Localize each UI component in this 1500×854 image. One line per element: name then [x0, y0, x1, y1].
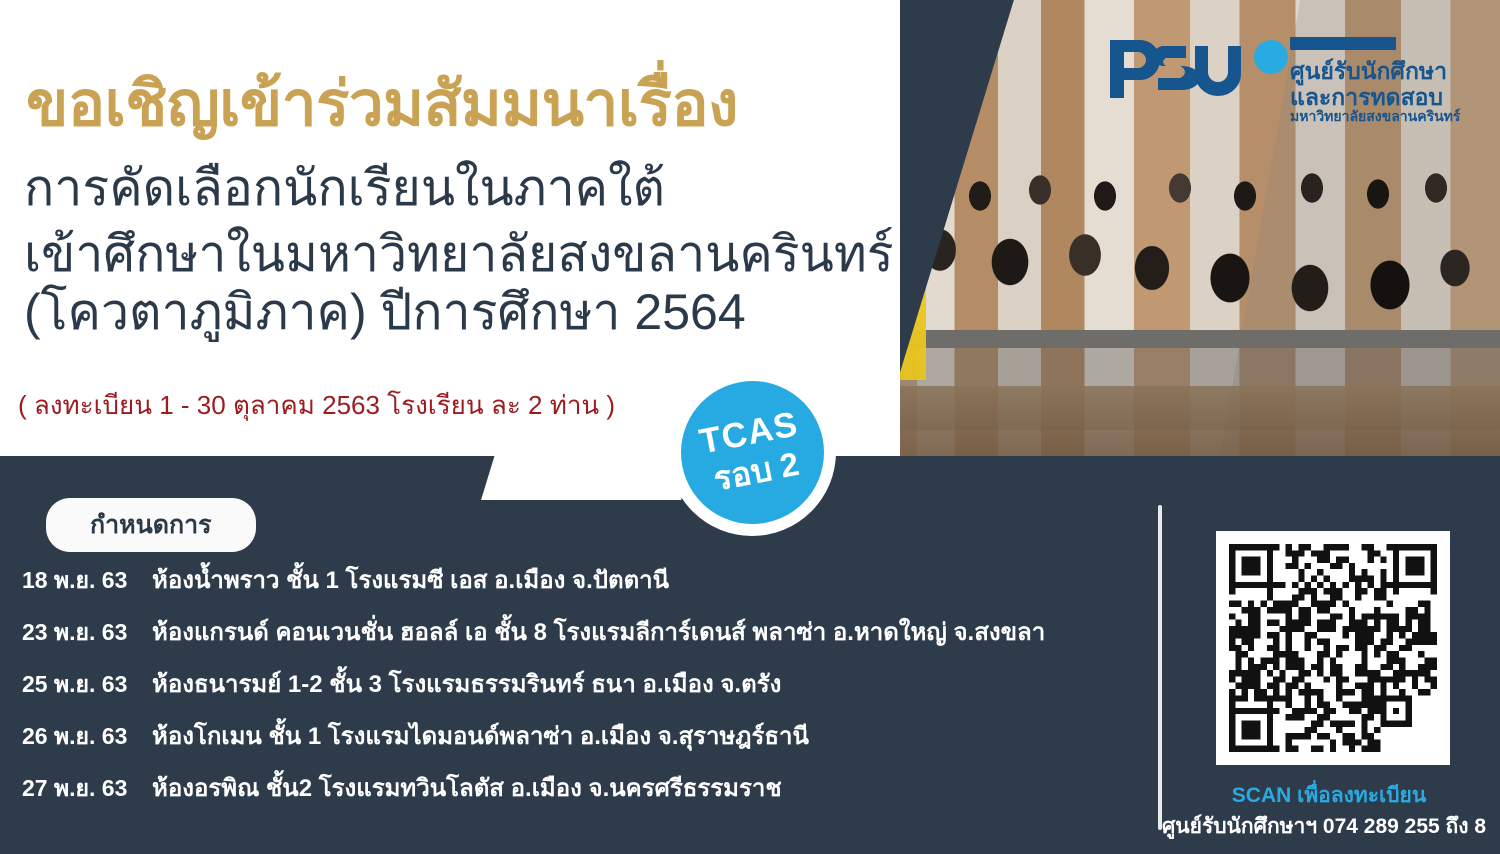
- tcas-badge-inner: TCAS รอบ 2: [668, 368, 836, 536]
- schedule-date: 26 พ.ย. 63: [0, 719, 152, 755]
- psu-wordmark-icon: [1104, 32, 1264, 106]
- schedule-venue: ห้องน้ำพราว ชั้น 1 โรงแรมซี เอส อ.เมือง …: [152, 560, 669, 599]
- schedule-date: 18 พ.ย. 63: [0, 563, 152, 599]
- psu-logo-line3: มหาวิทยาลัยสงขลานครินทร์: [1290, 106, 1460, 128]
- schedule-venue: ห้องธนารมย์ 1-2 ชั้น 3 โรงแรมธรรมรินทร์ …: [152, 664, 781, 703]
- schedule-row: 18 พ.ย. 63 ห้องน้ำพราว ชั้น 1 โรงแรมซี เ…: [0, 560, 1130, 612]
- qr-code-icon[interactable]: [1229, 544, 1437, 752]
- schedule-heading-pill: กำหนดการ: [46, 498, 256, 552]
- page-title-line3: เข้าศึกษาในมหาวิทยาลัยสงขลานครินทร์: [24, 226, 894, 283]
- schedule-date: 23 พ.ย. 63: [0, 615, 152, 651]
- schedule-row: 25 พ.ย. 63 ห้องธนารมย์ 1-2 ชั้น 3 โรงแรม…: [0, 664, 1130, 716]
- schedule-row: 23 พ.ย. 63 ห้องแกรนด์ คอนเวนชั่น ฮอลล์ เ…: [0, 612, 1130, 664]
- page-title-line2: การคัดเลือกนักเรียนในภาคใต้: [24, 160, 665, 217]
- schedule-venue: ห้องแกรนด์ คอนเวนชั่น ฮอลล์ เอ ชั้น 8 โร…: [152, 612, 1045, 651]
- schedule-date: 27 พ.ย. 63: [0, 771, 152, 807]
- page-title-gold: ขอเชิญเข้าร่วมสัมมนาเรื่อง: [26, 74, 738, 136]
- schedule-list: 18 พ.ย. 63 ห้องน้ำพราว ชั้น 1 โรงแรมซี เ…: [0, 560, 1130, 820]
- contact-phone-label: ศูนย์รับนักศึกษาฯ 074 289 255 ถึง 8: [1148, 810, 1500, 843]
- schedule-date: 25 พ.ย. 63: [0, 667, 152, 703]
- page-title-line4: (โควตาภูมิภาค) ปีการศึกษา 2564: [24, 284, 746, 341]
- qr-code-box[interactable]: [1216, 531, 1450, 765]
- schedule-venue: ห้องโกเมน ชั้น 1 โรงแรมไดมอนด์พลาซ่า อ.เ…: [152, 716, 809, 755]
- seminar-poster: ขอเชิญเข้าร่วมสัมมนาเรื่อง การคัดเลือกนั…: [0, 0, 1500, 854]
- psu-blue-dot-icon: [1254, 40, 1288, 74]
- registration-note: ( ลงทะเบียน 1 - 30 ตุลาคม 2563 โรงเรียน …: [18, 385, 615, 426]
- photo-floor: [880, 386, 1500, 456]
- scan-label: SCAN เพื่อลงทะเบียน: [1158, 779, 1500, 812]
- schedule-row: 26 พ.ย. 63 ห้องโกเมน ชั้น 1 โรงแรมไดมอนด…: [0, 716, 1130, 768]
- schedule-venue: ห้องอรพิณ ชั้น2 โรงแรมทวินโลตัส อ.เมือง …: [152, 768, 782, 807]
- tcas-badge: TCAS รอบ 2: [668, 368, 836, 536]
- psu-bar-icon: [1290, 37, 1396, 50]
- schedule-row: 27 พ.ย. 63 ห้องอรพิณ ชั้น2 โรงแรมทวินโลต…: [0, 768, 1130, 820]
- psu-logo: ศูนย์รับนักศึกษา และการทดสอบ มหาวิทยาลัย…: [1104, 18, 1494, 124]
